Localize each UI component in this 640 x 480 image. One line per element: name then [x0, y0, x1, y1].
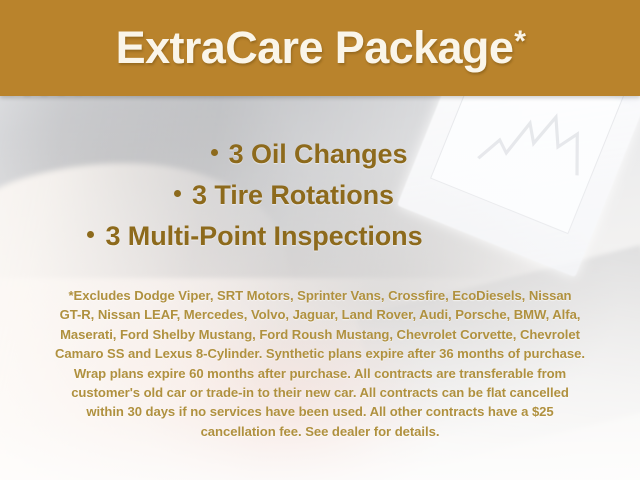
header-band: ExtraCare Package* [0, 0, 640, 96]
extracare-package-banner: ExtraCare Package* 3 Oil Changes 3 Tire … [0, 0, 640, 480]
bullet-dot-icon [87, 231, 94, 238]
disclaimer-line: *Excludes Dodge Viper, SRT Motors, Sprin… [34, 286, 606, 305]
benefit-label: 3 Oil Changes [229, 139, 408, 169]
benefit-item-multi-point-inspections: 3 Multi-Point Inspections [0, 216, 510, 257]
page-title-text: ExtraCare Package [116, 22, 514, 73]
bullet-dot-icon [211, 149, 218, 156]
benefits-list: 3 Oil Changes 3 Tire Rotations 3 Multi-P… [0, 134, 640, 257]
disclaimer-line: Wrap plans expire 60 months after purcha… [34, 364, 606, 383]
benefit-label: 3 Tire Rotations [192, 180, 394, 210]
disclaimer-line: within 30 days if no services have been … [34, 402, 606, 421]
benefit-label: 3 Multi-Point Inspections [105, 221, 422, 251]
benefit-item-oil-changes: 3 Oil Changes [0, 134, 510, 175]
title-asterisk: * [514, 25, 525, 58]
page-title: ExtraCare Package* [116, 25, 525, 72]
disclaimer-line: Camaro SS and Lexus 8-Cylinder. Syntheti… [34, 344, 606, 363]
benefit-item-tire-rotations: 3 Tire Rotations [0, 175, 510, 216]
disclaimer-line: GT-R, Nissan LEAF, Mercedes, Volvo, Jagu… [34, 305, 606, 324]
bullet-dot-icon [174, 190, 181, 197]
disclaimer-line: cancellation fee. See dealer for details… [34, 422, 606, 441]
disclaimer-line: customer's old car or trade-in to their … [34, 383, 606, 402]
disclaimer-text: *Excludes Dodge Viper, SRT Motors, Sprin… [34, 286, 606, 441]
disclaimer-line: Maserati, Ford Shelby Mustang, Ford Rous… [34, 325, 606, 344]
